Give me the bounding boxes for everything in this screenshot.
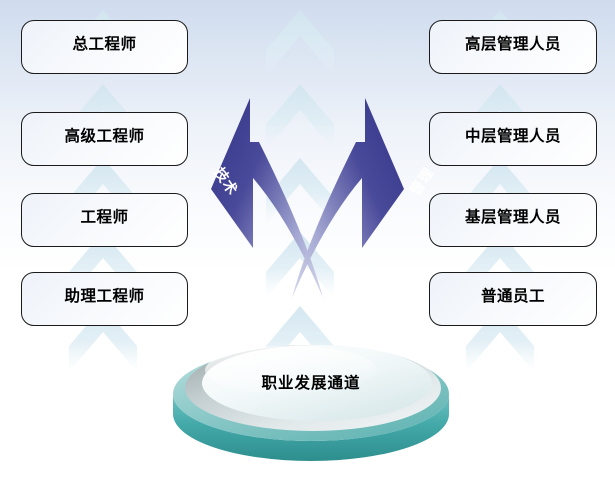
ladder-item-general-staff[interactable]: 普通员工 (429, 272, 597, 326)
ladder-item-label: 助理工程师 (64, 289, 144, 305)
ladder-item-label: 基层管理人员 (465, 210, 561, 226)
career-path-base-cylinder (171, 332, 451, 467)
ladder-item-junior-management[interactable]: 基层管理人员 (429, 193, 597, 247)
technical-track-label: 技术 (210, 166, 238, 199)
cylinder-gloss (205, 346, 377, 394)
ladder-item-label: 高层管理人员 (465, 37, 561, 53)
diagram-canvas: 技术 管理 总工程师 高级工程师 工程师 助理工程师 高层管理人员 中层管理人员… (0, 0, 615, 495)
ladder-item-chief-engineer[interactable]: 总工程师 (21, 20, 188, 74)
chevron-group-center (266, 10, 334, 372)
ladder-item-assistant-engineer[interactable]: 助理工程师 (21, 272, 188, 326)
ladder-item-label: 工程师 (80, 210, 128, 226)
ladder-item-label: 普通员工 (481, 289, 545, 305)
ladder-item-label: 中层管理人员 (465, 129, 561, 145)
ladder-item-middle-management[interactable]: 中层管理人员 (429, 112, 597, 166)
ladder-item-engineer[interactable]: 工程师 (21, 193, 188, 247)
management-track-label: 管理 (409, 166, 437, 199)
management-track-arrow (292, 98, 404, 298)
ladder-item-label: 高级工程师 (64, 129, 144, 145)
ladder-item-senior-management[interactable]: 高层管理人员 (429, 20, 597, 74)
ladder-item-label: 总工程师 (72, 37, 136, 53)
ladder-item-senior-engineer[interactable]: 高级工程师 (21, 112, 188, 166)
